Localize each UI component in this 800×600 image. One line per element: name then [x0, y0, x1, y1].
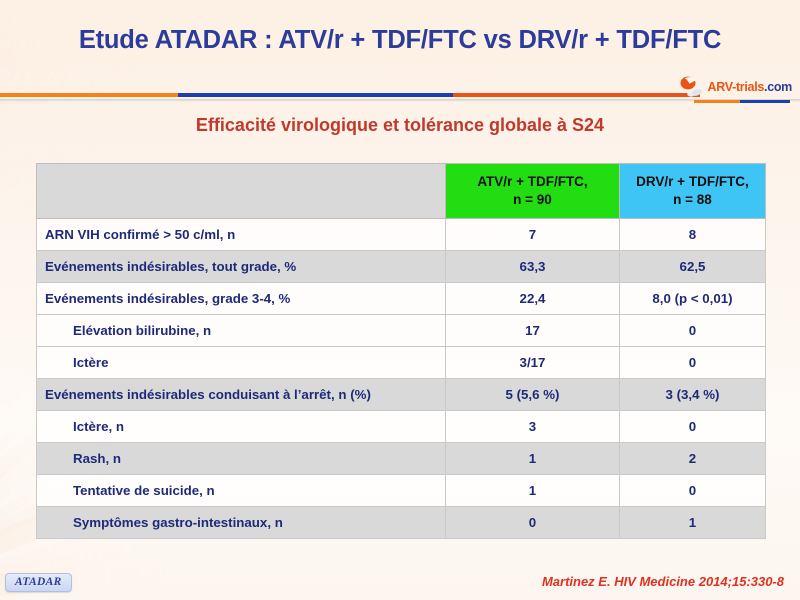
row-label: Tentative de suicide, n: [37, 475, 446, 507]
table-row: Symptômes gastro-intestinaux, n01: [37, 507, 766, 539]
column-header-arm-a-n: n = 90: [513, 192, 552, 207]
table-row: Rash, n12: [37, 443, 766, 475]
row-value-arm-b: 0: [620, 411, 766, 443]
table-header-row: ATV/r + TDF/FTC, n = 90 DRV/r + TDF/FTC,…: [37, 164, 766, 219]
citation-reference: Martinez E. HIV Medicine 2014;15:330-8: [542, 574, 784, 589]
table-row: Evénements indésirables, grade 3-4, %22,…: [37, 283, 766, 315]
pill-capsule-icon: [679, 75, 705, 99]
table-row: Ictère3/170: [37, 347, 766, 379]
row-value-arm-b: 0: [620, 347, 766, 379]
row-value-arm-b: 8,0 (p < 0,01): [620, 283, 766, 315]
results-table-wrapper: ATV/r + TDF/FTC, n = 90 DRV/r + TDF/FTC,…: [36, 163, 765, 539]
row-value-arm-a: 3: [446, 411, 620, 443]
table-row: ARN VIH confirmé > 50 c/ml, n78: [37, 219, 766, 251]
column-header-arm-b: DRV/r + TDF/FTC, n = 88: [620, 164, 766, 219]
row-label: Ictère: [37, 347, 446, 379]
logo-text: ARV-trials.com: [708, 80, 793, 94]
slide-title: Etude ATADAR : ATV/r + TDF/FTC vs DRV/r …: [0, 26, 800, 55]
row-label: Ictère, n: [37, 411, 446, 443]
row-value-arm-b: 8: [620, 219, 766, 251]
row-value-arm-a: 7: [446, 219, 620, 251]
divider-segment-orange: [0, 93, 178, 97]
logo-suffix: .com: [764, 80, 792, 94]
row-value-arm-b: 0: [620, 475, 766, 507]
row-value-arm-b: 1: [620, 507, 766, 539]
table-row: Evénements indésirables conduisant à l’a…: [37, 379, 766, 411]
row-label: Evénements indésirables, tout grade, %: [37, 251, 446, 283]
table-body: ARN VIH confirmé > 50 c/ml, n78Evénement…: [37, 219, 766, 539]
row-label: Evénements indésirables, grade 3-4, %: [37, 283, 446, 315]
row-label: Evénements indésirables conduisant à l’a…: [37, 379, 446, 411]
table-head: ATV/r + TDF/FTC, n = 90 DRV/r + TDF/FTC,…: [37, 164, 766, 219]
row-label: Rash, n: [37, 443, 446, 475]
row-value-arm-a: 17: [446, 315, 620, 347]
study-badge[interactable]: ATADAR: [5, 573, 72, 592]
slide-subtitle: Efficacité virologique et tolérance glob…: [0, 115, 800, 136]
row-value-arm-a: 63,3: [446, 251, 620, 283]
row-value-arm-a: 3/17: [446, 347, 620, 379]
row-label: Symptômes gastro-intestinaux, n: [37, 507, 446, 539]
logo-underline-bars: [694, 100, 790, 103]
arv-trials-logo[interactable]: ARV-trials.com: [679, 72, 793, 102]
table-row: Tentative de suicide, n10: [37, 475, 766, 507]
column-header-arm-a: ATV/r + TDF/FTC, n = 90: [446, 164, 620, 219]
row-value-arm-a: 0: [446, 507, 620, 539]
logo-bar-blue: [740, 100, 790, 103]
divider-segment-blue: [178, 93, 453, 97]
column-header-label: [37, 164, 446, 219]
logo-bar-orange: [694, 100, 740, 103]
column-header-arm-a-label: ATV/r + TDF/FTC,: [477, 174, 587, 189]
row-value-arm-a: 1: [446, 475, 620, 507]
table-row: Evénements indésirables, tout grade, %63…: [37, 251, 766, 283]
row-value-arm-b: 2: [620, 443, 766, 475]
row-value-arm-b: 3 (3,4 %): [620, 379, 766, 411]
table-row: Elévation bilirubine, n170: [37, 315, 766, 347]
row-label: Elévation bilirubine, n: [37, 315, 446, 347]
column-header-arm-b-n: n = 88: [673, 192, 712, 207]
divider-segment-red: [453, 93, 700, 97]
row-label: ARN VIH confirmé > 50 c/ml, n: [37, 219, 446, 251]
slide-canvas: Etude ATADAR : ATV/r + TDF/FTC vs DRV/r …: [0, 0, 800, 600]
column-header-arm-b-label: DRV/r + TDF/FTC,: [636, 174, 749, 189]
row-value-arm-b: 0: [620, 315, 766, 347]
row-value-arm-b: 62,5: [620, 251, 766, 283]
table-row: Ictère, n30: [37, 411, 766, 443]
row-value-arm-a: 1: [446, 443, 620, 475]
row-value-arm-a: 5 (5,6 %): [446, 379, 620, 411]
results-table: ATV/r + TDF/FTC, n = 90 DRV/r + TDF/FTC,…: [36, 163, 766, 539]
logo-name: ARV-trials: [708, 80, 765, 94]
row-value-arm-a: 22,4: [446, 283, 620, 315]
